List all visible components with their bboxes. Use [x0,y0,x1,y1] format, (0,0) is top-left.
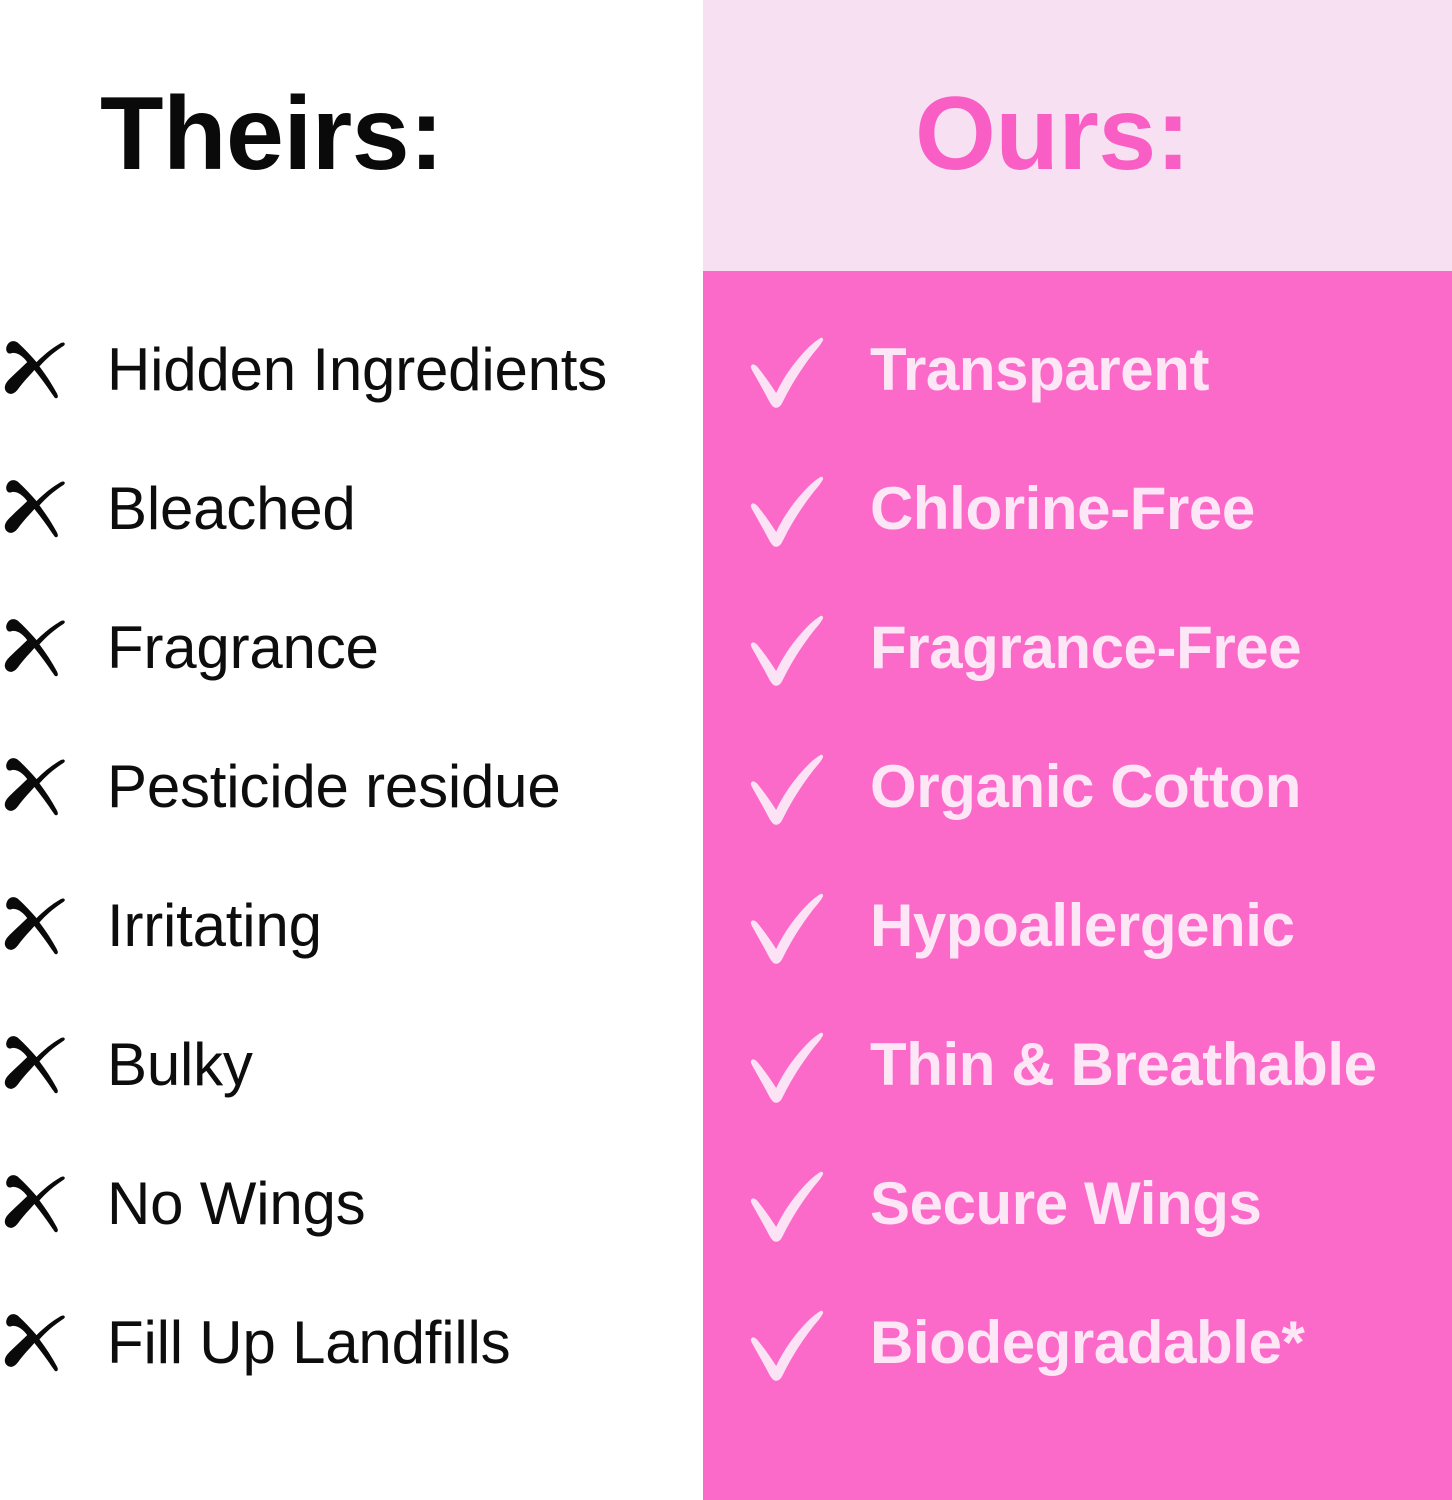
list-item-label: Biodegradable* [870,1313,1305,1373]
list-item: Bulky [0,995,703,1134]
list-item: Pesticide residue [0,717,703,856]
list-item-label: Hidden Ingredients [107,340,607,400]
list-item: Transparent [703,300,1452,439]
list-item: Secure Wings [703,1134,1452,1273]
list-item-label: Chlorine-Free [870,479,1255,539]
list-item-label: Bleached [107,479,356,539]
list-item-label: Hypoallergenic [870,896,1295,956]
list-item: Chlorine-Free [703,439,1452,578]
x-mark-icon [2,1307,74,1379]
list-item: Bleached [0,439,703,578]
ours-heading: Ours: [915,82,1190,186]
list-item: No Wings [0,1134,703,1273]
check-mark-icon [745,607,827,689]
list-item: Fill Up Landfills [0,1273,703,1412]
check-mark-icon [745,746,827,828]
list-item-label: Thin & Breathable [870,1035,1377,1095]
x-mark-icon [2,1029,74,1101]
ours-column: Transparent Chlorine-Free Fragrance-Free [703,300,1452,1412]
list-item: Fragrance [0,578,703,717]
x-mark-icon [2,890,74,962]
check-mark-icon [745,1302,827,1384]
comparison-chart: Theirs: Ours: Hidden Ingredients Bleache… [0,0,1452,1500]
check-mark-icon [745,468,827,550]
list-item: Hidden Ingredients [0,300,703,439]
check-mark-icon [745,885,827,967]
x-mark-icon [2,1168,74,1240]
list-item: Thin & Breathable [703,995,1452,1134]
list-item-label: Fragrance-Free [870,618,1301,678]
list-item: Organic Cotton [703,717,1452,856]
list-item: Biodegradable* [703,1273,1452,1412]
list-item: Irritating [0,856,703,995]
list-item-label: Pesticide residue [107,757,561,817]
check-mark-icon [745,329,827,411]
x-mark-icon [2,612,74,684]
list-item: Hypoallergenic [703,856,1452,995]
check-mark-icon [745,1163,827,1245]
list-item-label: Transparent [870,340,1209,400]
theirs-column: Hidden Ingredients Bleached Fragrance [0,300,703,1412]
list-item-label: Fill Up Landfills [107,1313,510,1373]
list-item-label: Secure Wings [870,1174,1261,1234]
list-item-label: Irritating [107,896,322,956]
x-mark-icon [2,473,74,545]
list-item-label: Fragrance [107,618,379,678]
list-item-label: No Wings [107,1174,365,1234]
check-mark-icon [745,1024,827,1106]
list-item-label: Bulky [107,1035,253,1095]
list-item-label: Organic Cotton [870,757,1301,817]
list-item: Fragrance-Free [703,578,1452,717]
x-mark-icon [2,751,74,823]
x-mark-icon [2,334,74,406]
theirs-heading: Theirs: [100,82,443,186]
